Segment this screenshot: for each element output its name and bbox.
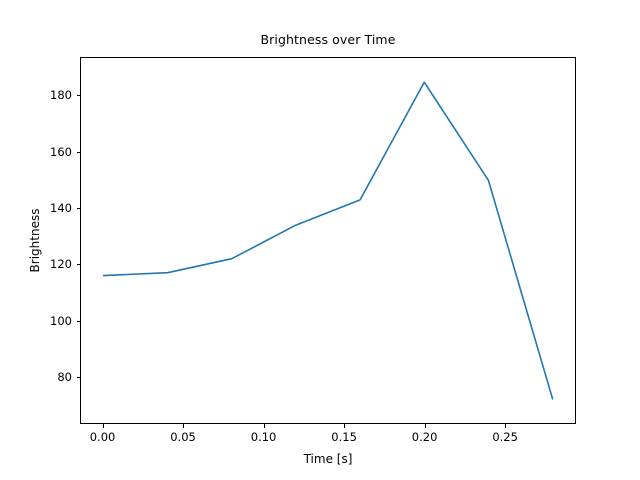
x-tick-mark xyxy=(183,424,184,428)
x-tick-mark xyxy=(344,424,345,428)
y-tick-mark xyxy=(77,377,81,378)
x-tick-label: 0.25 xyxy=(492,430,518,444)
plot-axes-frame xyxy=(80,57,576,424)
matplotlib-figure: Brightness over Time 80100120140160180 0… xyxy=(0,0,640,480)
x-tick-label: 0.15 xyxy=(331,430,357,444)
x-tick-mark xyxy=(505,424,506,428)
y-tick-mark xyxy=(77,95,81,96)
y-tick-mark xyxy=(77,208,81,209)
y-tick-mark xyxy=(77,264,81,265)
y-tick-mark xyxy=(77,152,81,153)
y-tick-mark xyxy=(77,321,81,322)
x-axis-label: Time [s] xyxy=(80,452,576,466)
x-tick-label: 0.20 xyxy=(412,430,438,444)
data-polyline xyxy=(103,82,552,399)
line-series-brightness xyxy=(81,58,575,423)
x-tick-mark xyxy=(264,424,265,428)
x-tick-label: 0.00 xyxy=(90,430,116,444)
x-tick-mark xyxy=(425,424,426,428)
x-tick-mark xyxy=(103,424,104,428)
x-tick-label: 0.05 xyxy=(170,430,196,444)
y-axis-label: Brightness xyxy=(28,57,44,424)
x-tick-label: 0.10 xyxy=(251,430,277,444)
chart-title: Brightness over Time xyxy=(80,32,576,47)
